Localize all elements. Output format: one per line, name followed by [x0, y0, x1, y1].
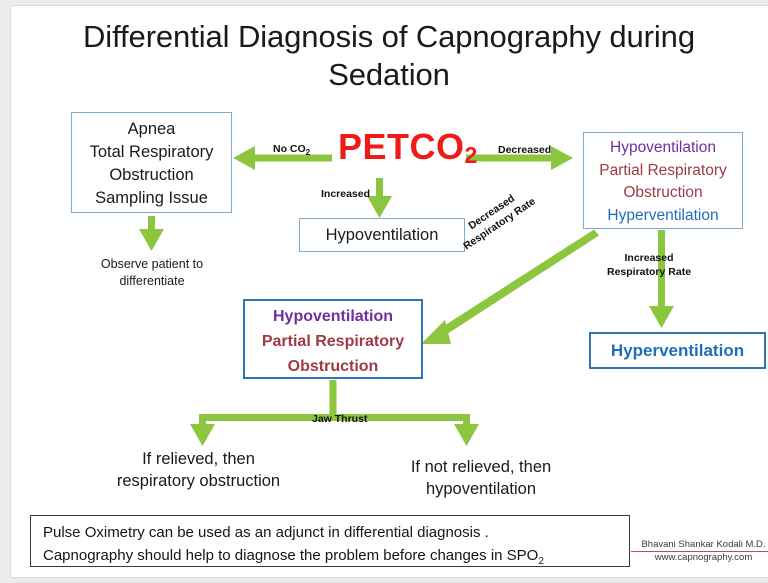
right-line-obstruction: Obstruction: [584, 182, 742, 205]
apnea-line-4: Sampling Issue: [72, 187, 231, 210]
label-jaw-thrust: Jaw Thrust: [312, 413, 367, 426]
petco2-text: PETCO: [338, 126, 465, 167]
mid-line-hypoventilation: Hypoventilation: [245, 304, 421, 329]
mid-differential-box[interactable]: Hypoventilation Partial Respiratory Obst…: [243, 299, 423, 379]
right-line-partial-respiratory: Partial Respiratory: [584, 160, 742, 183]
right-differential-box[interactable]: Hypoventilation Partial Respiratory Obst…: [583, 132, 743, 229]
if-not-relieved-text: If not relieved, then hypoventilation: [387, 456, 575, 500]
arrow-increased: [367, 178, 392, 218]
if-relieved-text: If relieved, then respiratory obstructio…: [115, 448, 282, 492]
label-increased-rr-line2: Respiratory Rate: [607, 266, 691, 280]
label-increased-rr-line1: Increased: [607, 252, 691, 266]
hyperventilation-label: Hyperventilation: [611, 341, 744, 360]
arrow-observe: [139, 216, 164, 251]
label-increased-respiratory-rate: Increased Respiratory Rate: [607, 252, 691, 279]
hypoventilation-box[interactable]: Hypoventilation: [299, 218, 465, 252]
apnea-line-3: Obstruction: [72, 164, 231, 187]
label-increased: Increased: [321, 188, 370, 201]
page-title: Differential Diagnosis of Capnography du…: [39, 18, 739, 94]
apnea-box[interactable]: Apnea Total Respiratory Obstruction Samp…: [71, 112, 232, 213]
hypoventilation-label: Hypoventilation: [326, 226, 439, 244]
label-no-co2: No CO2: [273, 143, 310, 159]
label-no-co2-subscript: 2: [306, 148, 310, 157]
apnea-line-1: Apnea: [72, 118, 231, 141]
apnea-line-2: Total Respiratory: [72, 141, 231, 164]
note-line-2: Capnography should help to diagnose the …: [43, 544, 629, 573]
right-line-hyperventilation: Hyperventilation: [584, 205, 742, 228]
credit-website: www.capnography.com: [631, 552, 768, 564]
mid-line-partial-respiratory: Partial Respiratory: [245, 329, 421, 354]
credit-block: Bhavani Shankar Kodali M.D. www.capnogra…: [631, 539, 768, 564]
note-line-2-text: Capnography should help to diagnose the …: [43, 547, 538, 564]
credit-author: Bhavani Shankar Kodali M.D.: [631, 539, 768, 552]
label-no-co2-text: No CO: [273, 143, 306, 155]
right-line-hypoventilation: Hypoventilation: [584, 137, 742, 160]
arrow-increased-rr: [649, 230, 674, 328]
note-line-1: Pulse Oximetry can be used as an adjunct…: [43, 521, 629, 544]
observe-patient-text: Observe patient to differentiate: [71, 256, 233, 290]
label-decreased: Decreased: [498, 144, 551, 157]
petco2-subscript: 2: [465, 142, 478, 168]
hyperventilation-box[interactable]: Hyperventilation: [589, 332, 766, 369]
slide-canvas: Differential Diagnosis of Capnography du…: [11, 6, 768, 577]
petco2-node: PETCO2: [338, 126, 478, 176]
footer-note-box: Pulse Oximetry can be used as an adjunct…: [30, 515, 630, 567]
note-line-2-subscript: 2: [538, 556, 544, 567]
mid-line-obstruction: Obstruction: [245, 354, 421, 379]
